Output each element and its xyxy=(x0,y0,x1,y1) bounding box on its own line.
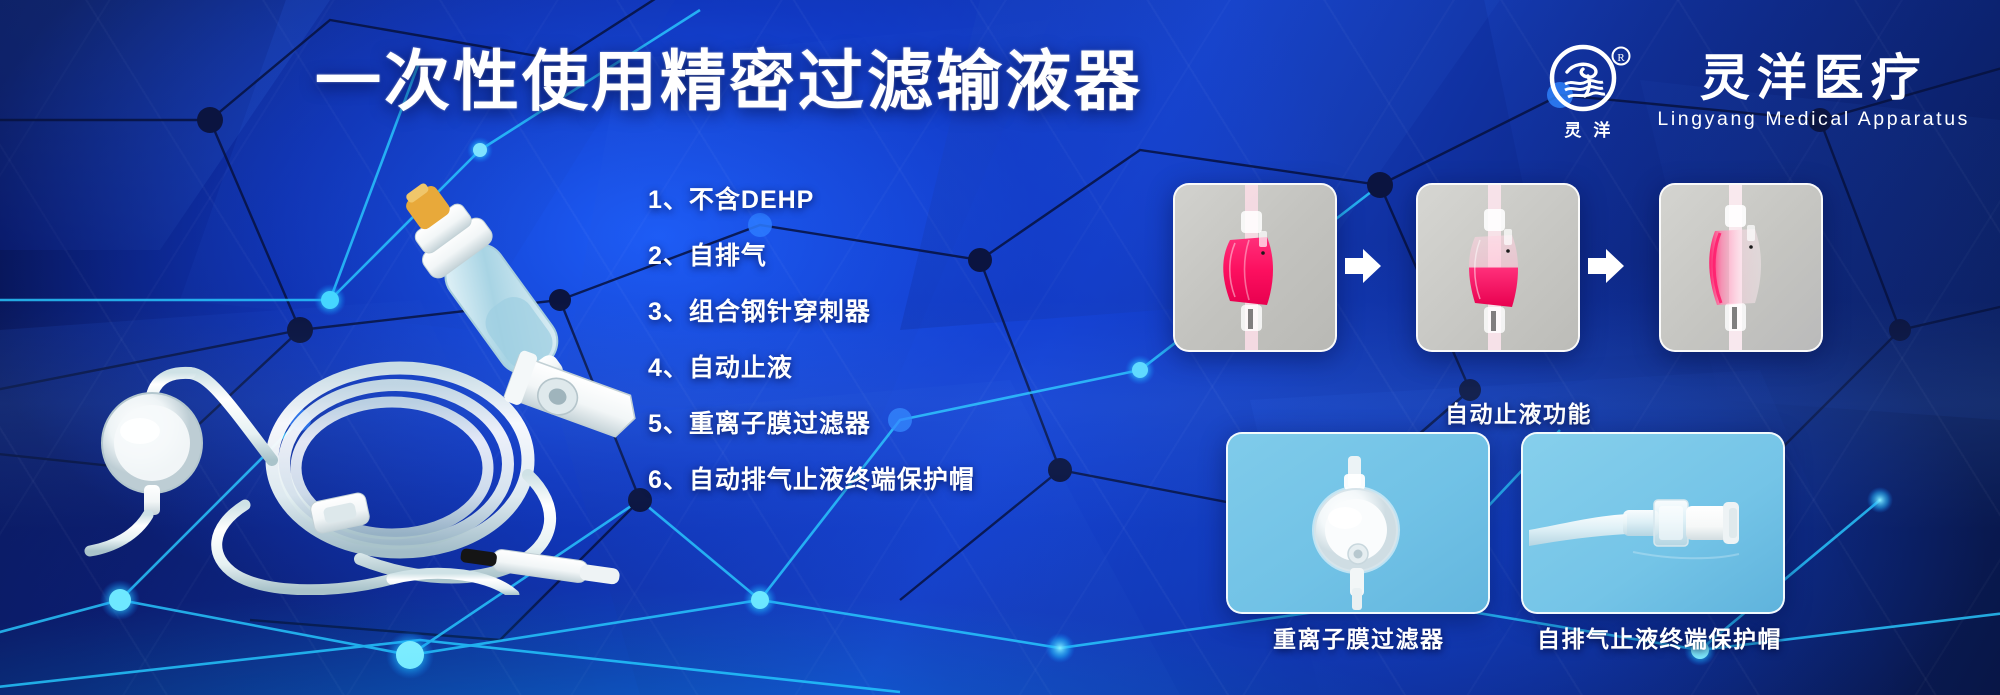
caption-heavy-ion-filter: 重离子膜过滤器 xyxy=(1273,620,1445,654)
auto-stop-step-2-photo xyxy=(1416,183,1580,352)
auto-stop-step-3-photo xyxy=(1659,183,1823,352)
page-title: 一次性使用精密过滤输液器 xyxy=(315,48,1143,114)
feature-item-5: 5、重离子膜过滤器 xyxy=(648,396,968,452)
feature-item-2: 2、自排气 xyxy=(648,228,968,284)
feature-item-6: 6、自动排气止液终端保护帽 xyxy=(648,452,968,508)
caption-terminal-cap: 自排气止液终端保护帽 xyxy=(1537,620,1782,654)
heavy-ion-membrane-filter-photo xyxy=(1226,432,1490,614)
svg-text:R: R xyxy=(1618,52,1626,64)
banner-title-wrap: 一次性使用精密过滤输液器 xyxy=(315,48,1143,114)
logo-wordmark: 灵洋医疗 Lingyang Medical Apparatus xyxy=(1657,52,1970,132)
logo-emblem-subtitle: 灵洋 xyxy=(1552,116,1622,141)
company-logo: R 灵洋 灵洋医疗 Lingyang Medical Apparatus xyxy=(1539,42,1970,141)
self-venting-terminal-cap-photo xyxy=(1521,432,1785,614)
company-name-cn: 灵洋医疗 xyxy=(1700,52,1928,105)
feature-list: 1、不含DEHP 2、自排气 3、组合钢针穿刺器 4、自动止液 5、重离子膜过滤… xyxy=(648,172,968,508)
product-banner: 一次性使用精密过滤输液器 R 灵洋 灵洋医疗 Lingyang Medical … xyxy=(0,0,2000,695)
arrow-right-icon xyxy=(1343,247,1383,285)
feature-item-1: 1、不含DEHP xyxy=(648,172,968,228)
main-product-photo xyxy=(40,175,680,595)
lingyang-circular-emblem-icon: R xyxy=(1539,42,1635,114)
feature-item-4: 4、自动止液 xyxy=(648,340,968,396)
feature-item-3: 3、组合钢针穿刺器 xyxy=(648,284,968,340)
auto-stop-step-1-photo xyxy=(1173,183,1337,352)
product-filter-part xyxy=(90,393,202,551)
caption-auto-stop: 自动止液功能 xyxy=(1445,395,1592,429)
company-name-en: Lingyang Medical Apparatus xyxy=(1657,108,1970,131)
arrow-right-icon xyxy=(1586,247,1626,285)
logo-emblem: R 灵洋 xyxy=(1539,42,1635,141)
